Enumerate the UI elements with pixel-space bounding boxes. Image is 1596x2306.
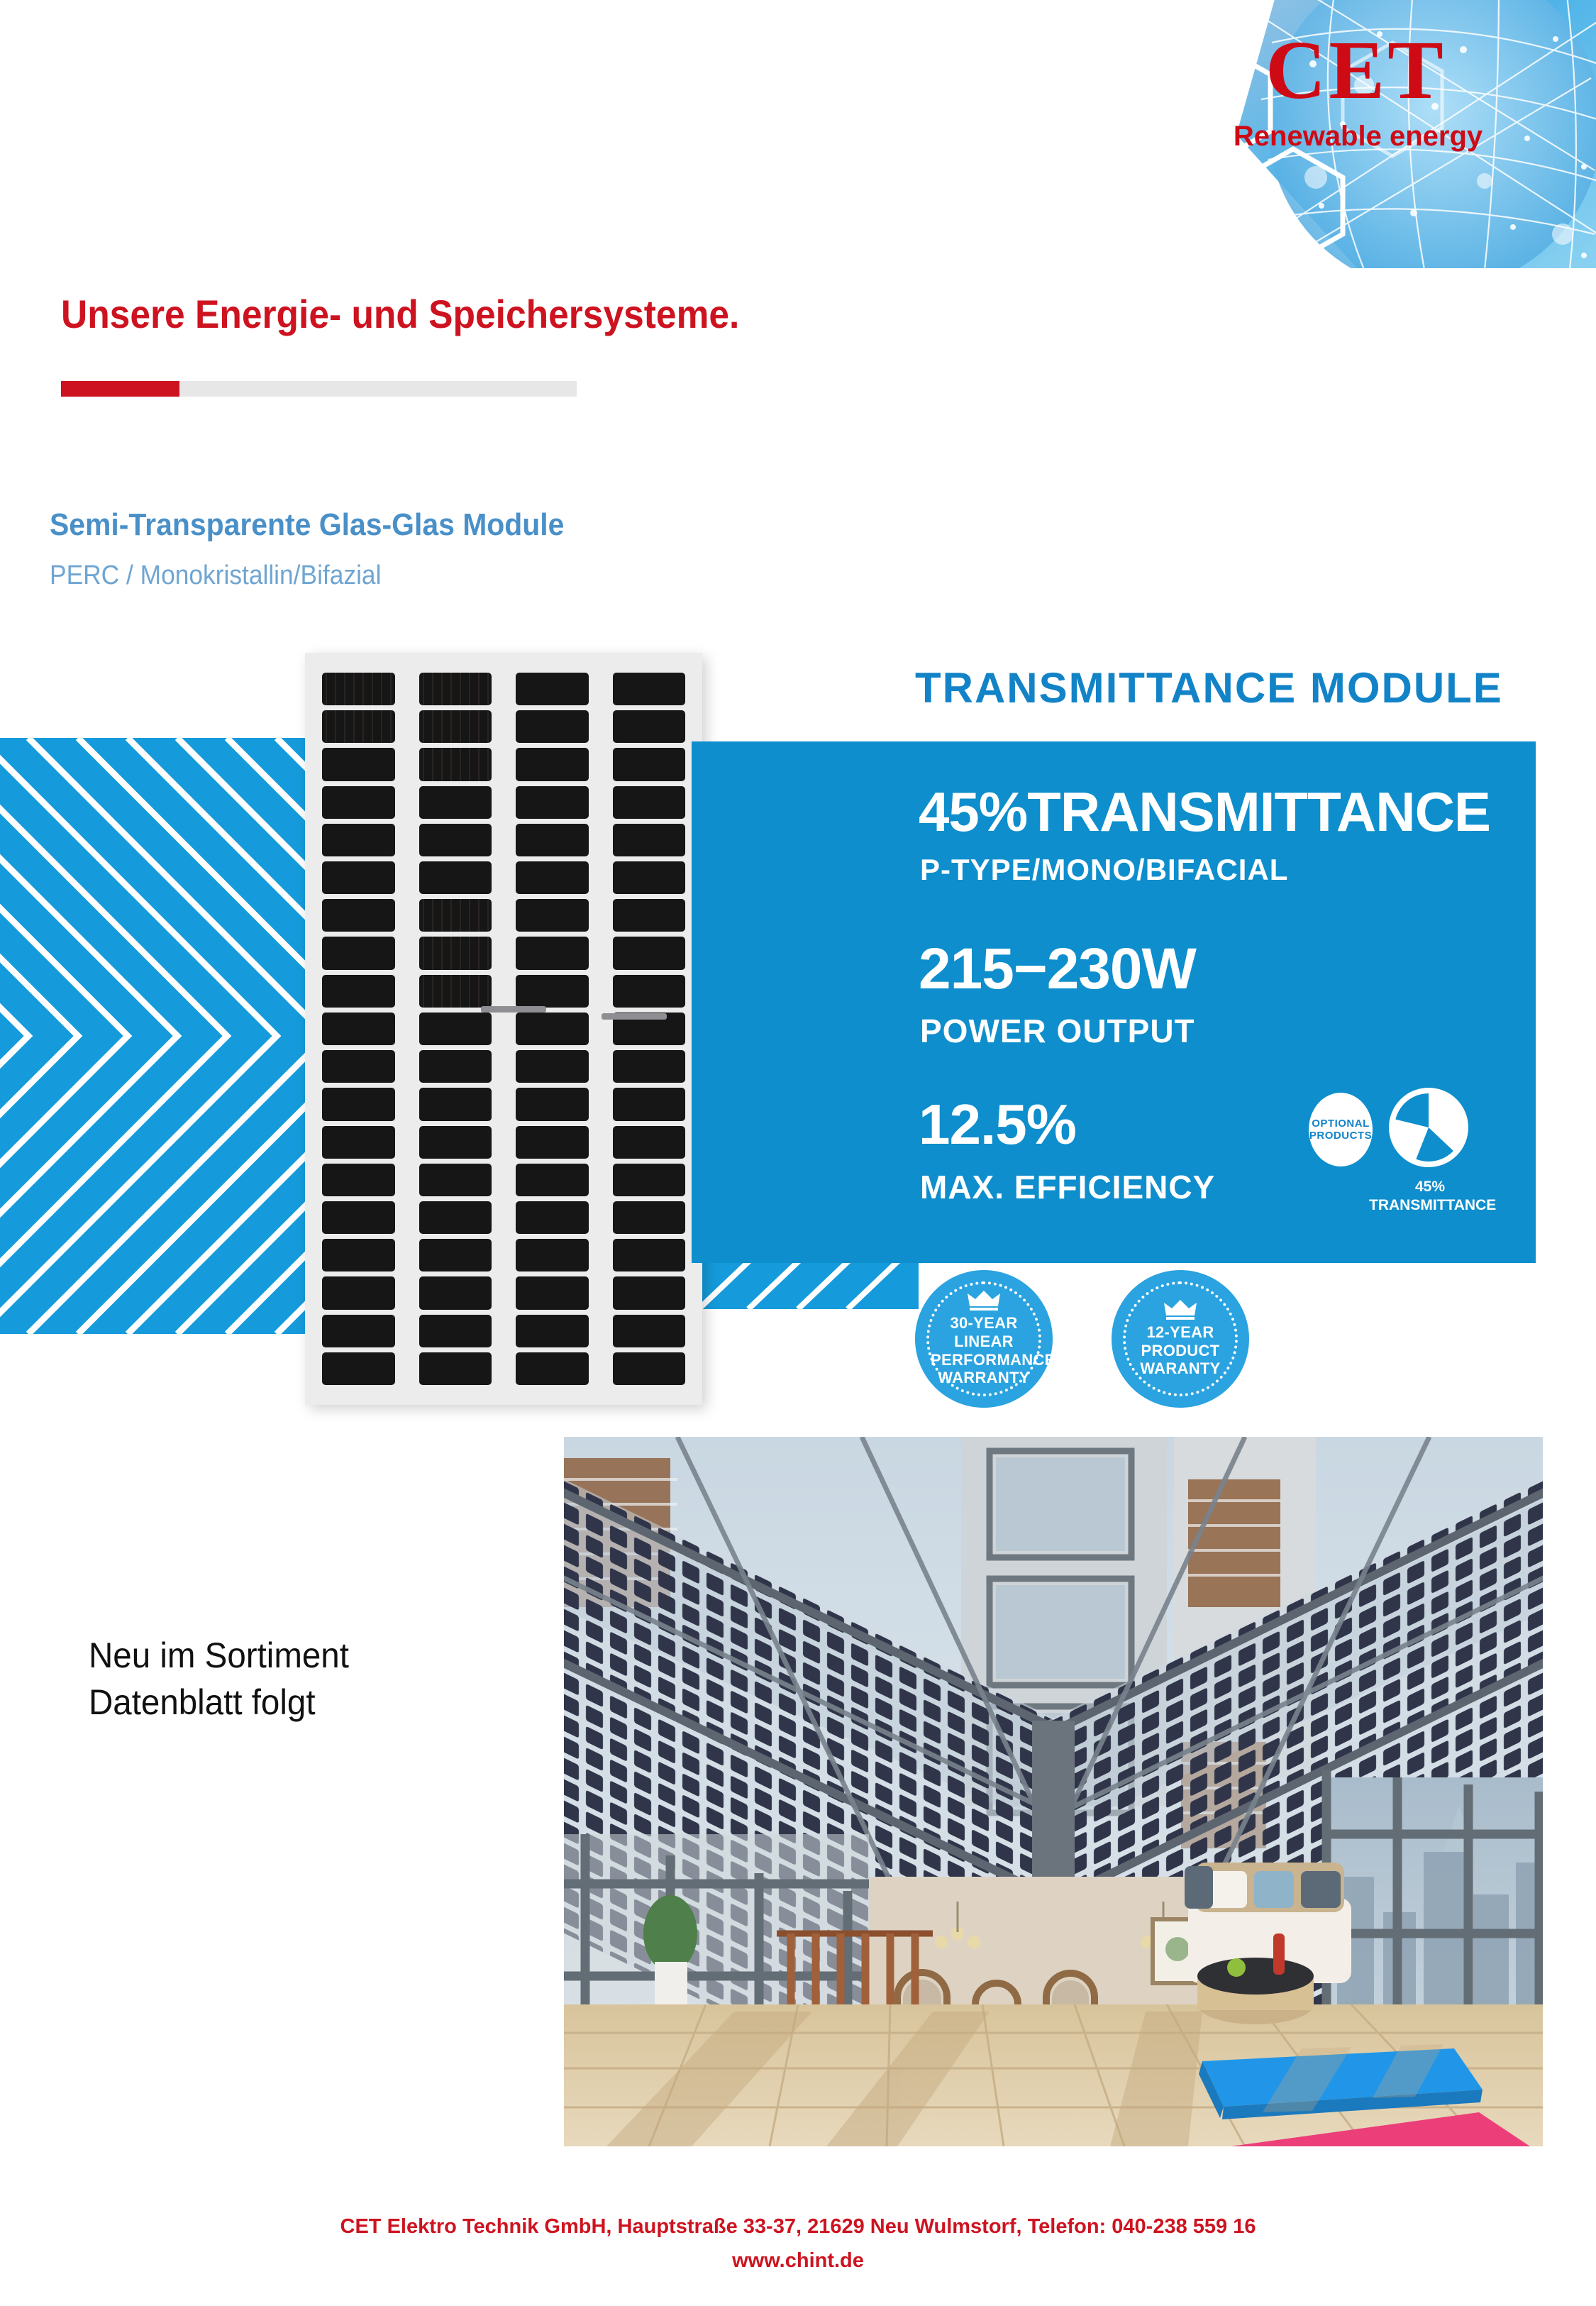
seal-line-4: WARRANTY: [931, 1369, 1037, 1387]
solar-cell: [516, 937, 589, 969]
pie-chart-icon: [1387, 1083, 1470, 1174]
page-title: Unsere Energie- und Speichersysteme.: [61, 291, 739, 337]
solar-cell: [516, 710, 589, 743]
solar-cell: [613, 1164, 686, 1196]
solar-cell: [419, 1276, 492, 1309]
solar-cell: [613, 1239, 686, 1271]
solar-cell: [613, 937, 686, 969]
power-output-label: POWER OUTPUT: [920, 1015, 1195, 1047]
solar-cell: [322, 1315, 395, 1347]
solar-cell: [322, 1201, 395, 1234]
solar-cell: [516, 1276, 589, 1309]
solar-cell: [322, 937, 395, 969]
seal-line-1: 30-YEAR: [931, 1314, 1037, 1333]
module-cell-grid: [322, 673, 685, 1385]
footer-contact: CET Elektro Technik GmbH, Hauptstraße 33…: [0, 2210, 1596, 2278]
solar-cell: [322, 1352, 395, 1385]
solar-cell: [516, 975, 589, 1008]
solar-module-image: [305, 653, 702, 1405]
seal-text: 30-YEAR LINEAR PERFORMANCE WARRANTY: [931, 1291, 1037, 1386]
seal-line-2: PRODUCT: [1127, 1342, 1234, 1360]
brand-logo: CET Renewable energy: [1130, 0, 1596, 268]
banner-heading: TRANSMITTANCE MODULE: [915, 663, 1503, 712]
module-cell-column: [322, 673, 395, 1385]
solar-cell: [613, 899, 686, 932]
section-title: Semi-Transparente Glas-Glas Module: [50, 507, 564, 543]
solar-cell: [322, 975, 395, 1008]
warranty-seal-performance: 30-YEAR LINEAR PERFORMANCE WARRANTY: [915, 1270, 1053, 1408]
solar-cell: [419, 899, 492, 932]
solar-cell: [322, 748, 395, 780]
solar-cell: [322, 861, 395, 894]
solar-cell: [419, 748, 492, 780]
solar-cell: [322, 1050, 395, 1083]
logo-text: CET: [1130, 28, 1596, 112]
cell-type-label: P-TYPE/MONO/BIFACIAL: [920, 855, 1288, 885]
solar-cell: [419, 1050, 492, 1083]
logo-tagline: Renewable energy: [1130, 121, 1596, 153]
power-output-value: 215−230W: [919, 940, 1196, 998]
footer-line-2[interactable]: www.chint.de: [0, 2244, 1596, 2278]
solar-cell: [516, 861, 589, 894]
solar-cell: [613, 1276, 686, 1309]
seal-text: 12-YEAR PRODUCT WARANTY: [1127, 1300, 1234, 1378]
solar-cell: [322, 1164, 395, 1196]
solar-cell: [613, 975, 686, 1008]
solar-cell: [516, 1239, 589, 1271]
module-cell-column: [419, 673, 492, 1385]
optional-products-line1: OPTIONAL: [1312, 1118, 1370, 1130]
title-progress-fill: [61, 381, 179, 397]
pie-caption-value: 45%: [1369, 1178, 1491, 1196]
solar-cell: [322, 1276, 395, 1309]
solar-cell: [516, 1201, 589, 1234]
module-cell-column: [613, 673, 686, 1385]
solar-cell: [613, 824, 686, 856]
solar-cell: [613, 1201, 686, 1234]
seal-line-2: LINEAR: [931, 1333, 1037, 1351]
solar-cell: [322, 1239, 395, 1271]
solar-cell: [613, 861, 686, 894]
solar-cell: [419, 786, 492, 819]
pie-caption: 45% TRANSMITTANCE: [1369, 1178, 1491, 1214]
solar-cell: [322, 1013, 395, 1045]
solar-cell: [322, 786, 395, 819]
caption-line-2: Datenblatt folgt: [89, 1679, 349, 1726]
solar-cell: [516, 673, 589, 705]
footer-line-1: CET Elektro Technik GmbH, Hauptstraße 33…: [0, 2210, 1596, 2244]
module-busbar: [481, 1006, 546, 1013]
efficiency-label: MAX. EFFICIENCY: [920, 1171, 1215, 1203]
solar-cell: [613, 710, 686, 743]
solar-cell: [613, 1050, 686, 1083]
solar-cell: [613, 748, 686, 780]
module-busbar: [602, 1013, 667, 1020]
section-subtitle: PERC / Monokristallin/Bifazial: [50, 561, 381, 591]
seal-line-1: 12-YEAR: [1127, 1323, 1234, 1342]
solar-cell: [516, 1352, 589, 1385]
solar-cell: [516, 1315, 589, 1347]
solar-cell: [419, 1088, 492, 1120]
seal-line-3: PERFORMANCE: [931, 1351, 1037, 1369]
solar-cell: [322, 899, 395, 932]
solar-cell: [322, 673, 395, 705]
solar-cell: [419, 1164, 492, 1196]
efficiency-value: 12.5%: [919, 1096, 1076, 1153]
optional-products-line2: PRODUCTS: [1309, 1130, 1372, 1142]
solar-cell: [613, 1088, 686, 1120]
solar-cell: [419, 1239, 492, 1271]
solar-cell: [516, 1088, 589, 1120]
solar-cell: [516, 899, 589, 932]
caption-line-1: Neu im Sortiment: [89, 1632, 349, 1679]
solar-cell: [419, 710, 492, 743]
solar-cell: [419, 975, 492, 1008]
solar-cell: [516, 824, 589, 856]
module-cell-column: [516, 673, 589, 1385]
solar-cell: [419, 937, 492, 969]
crown-icon: [968, 1291, 1000, 1311]
transmittance-value: 45%TRANSMITTANCE: [919, 784, 1490, 839]
solar-cell: [419, 1352, 492, 1385]
crown-icon: [1164, 1300, 1197, 1320]
solar-cell: [516, 1164, 589, 1196]
solar-cell: [419, 1315, 492, 1347]
title-progress-track: [61, 381, 577, 397]
solar-cell: [419, 673, 492, 705]
solar-cell: [419, 1013, 492, 1045]
application-photo-sunroom: [564, 1437, 1543, 2146]
solar-cell: [322, 1088, 395, 1120]
solar-cell: [613, 1315, 686, 1347]
product-status-caption: Neu im Sortiment Datenblatt folgt: [89, 1632, 349, 1726]
solar-cell: [419, 861, 492, 894]
seal-line-3: WARANTY: [1127, 1359, 1234, 1378]
solar-cell: [613, 786, 686, 819]
solar-cell: [419, 824, 492, 856]
warranty-seal-product: 12-YEAR PRODUCT WARANTY: [1112, 1270, 1249, 1408]
solar-cell: [419, 1126, 492, 1159]
solar-cell: [516, 1050, 589, 1083]
solar-cell: [613, 1126, 686, 1159]
solar-cell: [613, 1352, 686, 1385]
solar-cell: [322, 824, 395, 856]
solar-cell: [322, 1126, 395, 1159]
pie-caption-label: TRANSMITTANCE: [1369, 1196, 1491, 1215]
solar-cell: [516, 1126, 589, 1159]
solar-cell: [322, 710, 395, 743]
solar-cell: [516, 786, 589, 819]
solar-cell: [419, 1201, 492, 1234]
solar-cell: [516, 748, 589, 780]
solar-cell: [613, 673, 686, 705]
solar-cell: [516, 1013, 589, 1045]
optional-products-badge: OPTIONAL PRODUCTS: [1309, 1093, 1373, 1166]
